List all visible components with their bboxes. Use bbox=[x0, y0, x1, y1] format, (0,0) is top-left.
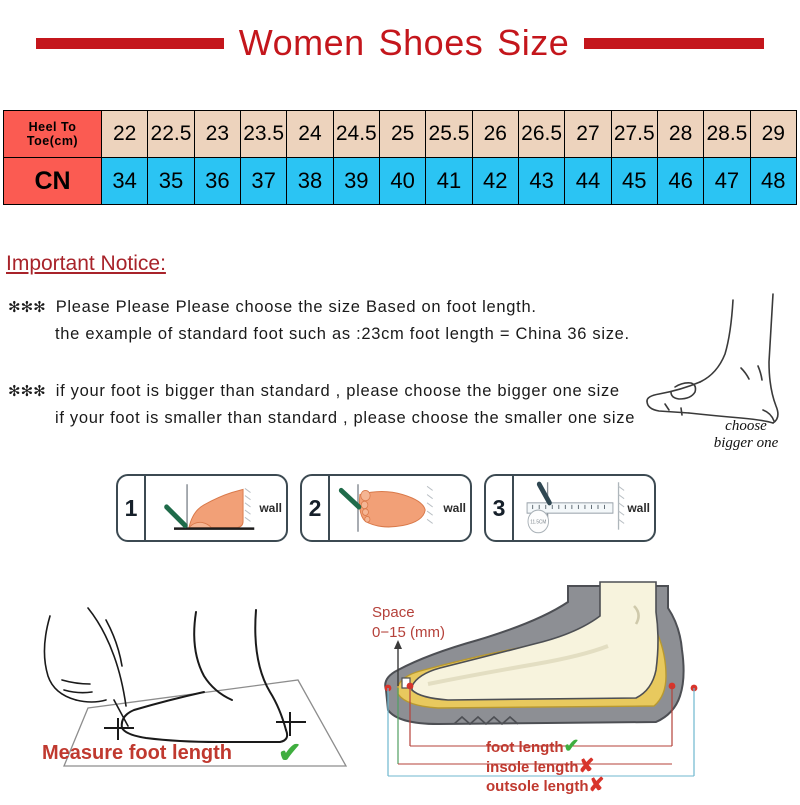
foot-caption-line-1: choose bbox=[686, 418, 800, 435]
asterisk-marker-2: ✻✻✻ bbox=[8, 383, 46, 400]
measure-check-icon: ✔ bbox=[278, 736, 301, 769]
ruler-reading-label: 11.5CM bbox=[530, 519, 546, 525]
measure-foot-length-caption: Measure foot length bbox=[42, 742, 232, 765]
outsole-length-cross-icon: ✘ bbox=[589, 775, 605, 796]
measuring-steps: 1 wall 2 bbox=[116, 474, 656, 542]
page-title: WomenShoesSize bbox=[232, 22, 577, 64]
step-number-1: 1 bbox=[118, 476, 146, 540]
notice-block-2: ✻✻✻if your foot is bigger than standard … bbox=[8, 378, 635, 431]
cell-cn-7: 41 bbox=[426, 158, 472, 205]
step-3-illustration: 11.5CM wall bbox=[514, 476, 654, 540]
step-1-illustration: wall bbox=[146, 476, 286, 540]
title-word-3: Size bbox=[497, 22, 569, 63]
cell-cn-0: 34 bbox=[102, 158, 148, 205]
cell-cn-9: 43 bbox=[518, 158, 564, 205]
cell-cm-4: 24 bbox=[287, 111, 333, 158]
notice-block-1: ✻✻✻Please Please Please choose the size … bbox=[8, 294, 630, 347]
row-header-heel-to-toe: Heel To Toe(cm) bbox=[4, 111, 102, 158]
title-rule-left bbox=[36, 38, 224, 49]
cell-cm-11: 27.5 bbox=[611, 111, 657, 158]
cell-cn-3: 37 bbox=[240, 158, 286, 205]
cell-cm-8: 26 bbox=[472, 111, 518, 158]
wall-label-3: wall bbox=[627, 501, 650, 515]
cell-cn-13: 47 bbox=[704, 158, 750, 205]
space-label-line-1: Space bbox=[372, 603, 445, 623]
wall-label-1: wall bbox=[259, 501, 282, 515]
step-panel-1: 1 wall bbox=[116, 474, 288, 542]
cell-cn-1: 35 bbox=[148, 158, 194, 205]
notice-line-3-text: if your foot is bigger than standard , p… bbox=[56, 382, 620, 400]
size-conversion-table: Heel To Toe(cm) 22 22.5 23 23.5 24 24.5 … bbox=[3, 110, 797, 205]
foot-art-caption: choose bigger one bbox=[686, 418, 800, 452]
space-label-line-2: 0−15 (mm) bbox=[372, 623, 445, 643]
notice-line-4: if your foot is smaller than standard , … bbox=[8, 405, 635, 431]
cell-cm-7: 25.5 bbox=[426, 111, 472, 158]
legend-foot-length-text: foot length bbox=[486, 739, 563, 756]
step-number-3: 3 bbox=[486, 476, 514, 540]
wall-label-2: wall bbox=[443, 501, 466, 515]
cell-cn-6: 40 bbox=[379, 158, 425, 205]
step-number-2: 2 bbox=[302, 476, 330, 540]
legend-outsole-length: outsole length✘ bbox=[486, 777, 604, 797]
cell-cn-8: 42 bbox=[472, 158, 518, 205]
cell-cm-12: 28 bbox=[657, 111, 703, 158]
title-rule-right bbox=[584, 38, 764, 49]
cell-cn-5: 39 bbox=[333, 158, 379, 205]
table-row-heel-to-toe: Heel To Toe(cm) 22 22.5 23 23.5 24 24.5 … bbox=[4, 111, 797, 158]
notice-line-1-text: Please Please Please choose the size Bas… bbox=[56, 298, 537, 316]
cell-cm-5: 24.5 bbox=[333, 111, 379, 158]
table-row-cn: CN 34 35 36 37 38 39 40 41 42 43 44 45 4… bbox=[4, 158, 797, 205]
foot-length-check-icon: ✔ bbox=[563, 736, 579, 757]
cell-cm-1: 22.5 bbox=[148, 111, 194, 158]
notice-line-2: the example of standard foot such as :23… bbox=[8, 321, 630, 347]
page-title-row: WomenShoesSize bbox=[0, 18, 800, 68]
cell-cm-2: 23 bbox=[194, 111, 240, 158]
foot-caption-line-2: bigger one bbox=[686, 435, 800, 452]
legend-outsole-length-text: outsole length bbox=[486, 778, 589, 795]
important-notice-heading: Important Notice: bbox=[6, 252, 166, 276]
legend-insole-length-text: insole length bbox=[486, 759, 579, 776]
cell-cn-10: 44 bbox=[565, 158, 611, 205]
cell-cn-2: 36 bbox=[194, 158, 240, 205]
cell-cn-11: 45 bbox=[611, 158, 657, 205]
cell-cn-12: 46 bbox=[657, 158, 703, 205]
cell-cn-14: 48 bbox=[750, 158, 796, 205]
cell-cm-9: 26.5 bbox=[518, 111, 564, 158]
step-panel-3: 3 11.5CM bbox=[484, 474, 656, 542]
step-panel-2: 2 wall bbox=[300, 474, 472, 542]
cell-cm-10: 27 bbox=[565, 111, 611, 158]
step-2-illustration: wall bbox=[330, 476, 470, 540]
cell-cn-4: 38 bbox=[287, 158, 333, 205]
asterisk-marker: ✻✻✻ bbox=[8, 299, 46, 316]
cell-cm-14: 29 bbox=[750, 111, 796, 158]
cell-cm-3: 23.5 bbox=[240, 111, 286, 158]
length-legend: foot length✔ insole length✘ outsole leng… bbox=[486, 738, 604, 797]
space-gap-label: Space 0−15 (mm) bbox=[372, 603, 445, 643]
cell-cm-13: 28.5 bbox=[704, 111, 750, 158]
title-word-1: Women bbox=[239, 22, 365, 63]
insole-length-cross-icon: ✘ bbox=[579, 756, 595, 777]
notice-line-1: ✻✻✻Please Please Please choose the size … bbox=[8, 294, 630, 321]
legend-insole-length: insole length✘ bbox=[486, 758, 604, 778]
cell-cm-0: 22 bbox=[102, 111, 148, 158]
cell-cm-6: 25 bbox=[379, 111, 425, 158]
row-header-cn: CN bbox=[4, 158, 102, 205]
notice-line-3: ✻✻✻if your foot is bigger than standard … bbox=[8, 378, 635, 405]
title-word-2: Shoes bbox=[379, 22, 484, 63]
